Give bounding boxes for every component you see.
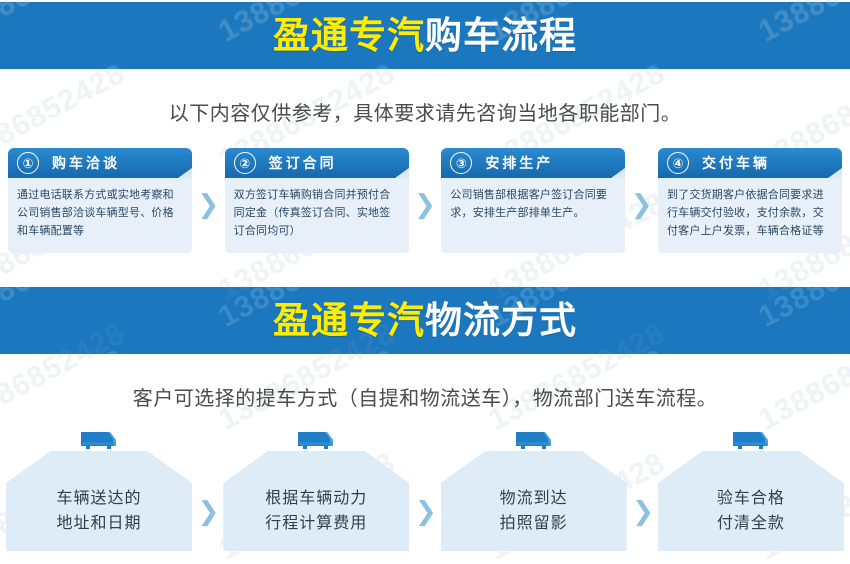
banner-title-highlight: 盈通专汽 (273, 300, 425, 341)
truck-icon (77, 429, 121, 453)
logistics-card-shape: 车辆送达的 地址和日期 (6, 451, 192, 551)
step-number-badge: ③ (450, 152, 472, 174)
logistics-card[interactable]: 验车合格 付清全款 (658, 429, 844, 551)
step-number-badge: ① (17, 152, 39, 174)
logistics-card-row: 车辆送达的 地址和日期 ❯ 根据车辆动力 行程计算费用 ❯ (0, 429, 850, 551)
watermark-text: 13886852428 (0, 343, 131, 354)
watermark-text: 13886852428 (483, 58, 671, 69)
logistics-card-line1: 车辆送达的 (56, 487, 141, 512)
process-card-body: 双方签订车辆购销合同并预付合同定金（传真签订合同、实地签订合同均可） (225, 178, 409, 253)
watermark-text: 13886852428 (753, 2, 850, 50)
step-number-badge: ② (234, 152, 256, 174)
chevron-right-icon: ❯ (632, 499, 652, 525)
logistics-card-line2: 付清全款 (717, 512, 785, 537)
logistics-section: 1388685242813886852428138868524281388685… (0, 285, 850, 551)
process-card-title: 安排生产 (485, 153, 553, 173)
chevron-right-icon: ❯ (198, 499, 218, 525)
process-card-title: 签订合同 (269, 153, 337, 173)
logistics-banner: 1388685242813886852428138868524281388685… (0, 285, 850, 356)
process-card-body: 通过电话联系方式或实地考察和公司销售部洽谈车辆型号、价格和车辆配置等 (8, 178, 192, 253)
process-card-header: ④ 交付车辆 (658, 148, 842, 178)
watermark-text: 13886852428 (0, 287, 131, 335)
process-card-row: ① 购车洽谈 通过电话联系方式或实地考察和公司销售部洽谈车辆型号、价格和车辆配置… (0, 148, 850, 253)
logistics-card-line1: 物流到达 (500, 487, 568, 512)
logistics-card-line2: 地址和日期 (56, 512, 141, 537)
chevron-right-icon: ❯ (415, 499, 435, 525)
purchase-process-section: 1388685242813886852428138868524281388685… (0, 0, 850, 253)
logistics-card-shape: 验车合格 付清全款 (658, 451, 844, 551)
process-card-body: 公司销售部根据客户签订合同要求，安排生产部排单生产。 (441, 178, 625, 253)
chevron-right-icon: ❯ (197, 192, 219, 218)
logistics-card-line1: 验车合格 (717, 487, 785, 512)
logistics-card-shape: 物流到达 拍照留影 (441, 451, 627, 551)
process-card[interactable]: ② 签订合同 双方签订车辆购销合同并预付合同定金（传真签订合同、实地签订合同均可… (225, 148, 409, 253)
truck-icon (294, 429, 338, 453)
watermark-text: 13886852428 (753, 343, 850, 354)
logistics-subtitle: 客户可选择的提车方式（自提和物流送车），物流部门送车流程。 (0, 382, 850, 411)
logistics-banner-title: 盈通专汽物流方式 (273, 302, 577, 339)
logistics-card-line1: 根据车辆动力 (265, 487, 367, 512)
process-card[interactable]: ③ 安排生产 公司销售部根据客户签订合同要求，安排生产部排单生产。 (441, 148, 625, 253)
process-card-header: ② 签订合同 (225, 148, 409, 178)
watermark-text: 13886852428 (213, 343, 401, 354)
process-card-body: 到了交货期客户依据合同要求进行车辆交付验收，支付余款，交付客户上户发票，车辆合格… (658, 178, 842, 253)
watermark-text: 13886852428 (213, 58, 401, 69)
process-card[interactable]: ④ 交付车辆 到了交货期客户依据合同要求进行车辆交付验收，支付余款，交付客户上户… (658, 148, 842, 253)
process-banner-title: 盈通专汽购车流程 (273, 17, 577, 54)
logistics-card[interactable]: 物流到达 拍照留影 (441, 429, 627, 551)
watermark-text: 13886852428 (753, 287, 850, 335)
process-banner: 1388685242813886852428138868524281388685… (0, 0, 850, 71)
logistics-card-line2: 行程计算费用 (265, 512, 367, 537)
process-card-header: ① 购车洽谈 (8, 148, 192, 178)
process-card-header: ③ 安排生产 (441, 148, 625, 178)
watermark-text: 13886852428 (753, 58, 850, 69)
banner-title-plain: 购车流程 (425, 15, 577, 56)
process-card[interactable]: ① 购车洽谈 通过电话联系方式或实地考察和公司销售部洽谈车辆型号、价格和车辆配置… (8, 148, 192, 253)
watermark-text: 13886852428 (0, 2, 131, 50)
logistics-card-shape: 根据车辆动力 行程计算费用 (223, 451, 409, 551)
logistics-card-line2: 拍照留影 (500, 512, 568, 537)
banner-title-plain: 物流方式 (425, 300, 577, 341)
chevron-right-icon: ❯ (414, 192, 436, 218)
truck-icon (512, 429, 556, 453)
step-number-badge: ④ (667, 152, 689, 174)
logistics-card[interactable]: 车辆送达的 地址和日期 (6, 429, 192, 551)
banner-title-highlight: 盈通专汽 (273, 15, 425, 56)
logistics-card[interactable]: 根据车辆动力 行程计算费用 (223, 429, 409, 551)
chevron-right-icon: ❯ (631, 192, 653, 218)
process-card-title: 交付车辆 (702, 153, 770, 173)
truck-icon (729, 429, 773, 453)
watermark-text: 13886852428 (483, 343, 671, 354)
watermark-text: 13886852428 (0, 58, 131, 69)
process-card-title: 购车洽谈 (52, 153, 120, 173)
process-subtitle: 以下内容仅供参考，具体要求请先咨询当地各职能部门。 (0, 97, 850, 126)
